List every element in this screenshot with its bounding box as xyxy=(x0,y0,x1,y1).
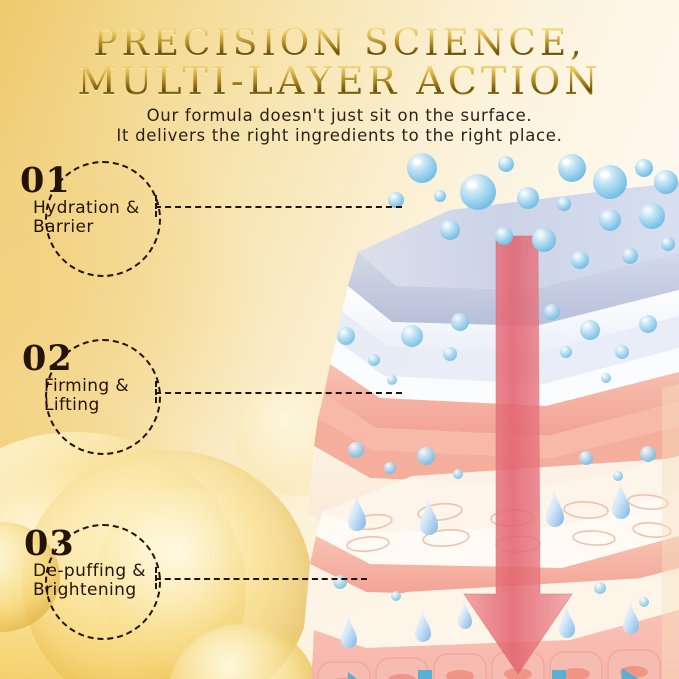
page-title-line-2: MULTI-LAYER ACTION xyxy=(0,62,679,101)
callout-number: 03 xyxy=(24,526,75,561)
infographic-canvas: PRECISION SCIENCE, MULTI-LAYER ACTION Ou… xyxy=(0,0,679,679)
callout-label-line-1: De-puffing & xyxy=(33,561,146,581)
callout-label: Hydration & Barrier xyxy=(33,199,140,237)
callout-number: 02 xyxy=(22,341,73,376)
skin-cross-section-illustration xyxy=(300,140,679,679)
leader-line-02 xyxy=(155,392,402,394)
gold-oil-blob-icon xyxy=(168,624,318,679)
leader-line-01 xyxy=(155,206,402,208)
subtitle-line-1: Our formula doesn't just sit on the surf… xyxy=(0,106,679,125)
subtitle-line-2: It delivers the right ingredients to the… xyxy=(0,126,679,145)
block-side-face xyxy=(662,384,679,679)
callout-label-line-2: Barrier xyxy=(33,217,94,237)
callout-label-line-1: Hydration & xyxy=(33,198,140,218)
callout-label: Firming & Lifting xyxy=(44,377,129,415)
callout-label-line-2: Lifting xyxy=(44,395,100,415)
page-title-line-1: PRECISION SCIENCE, xyxy=(0,26,679,63)
callout-label: De-puffing & Brightening xyxy=(33,562,146,600)
leader-line-03 xyxy=(155,578,367,580)
callout-label-line-2: Brightening xyxy=(33,580,137,600)
callout-number: 01 xyxy=(20,163,71,198)
callout-label-line-1: Firming & xyxy=(44,376,129,396)
